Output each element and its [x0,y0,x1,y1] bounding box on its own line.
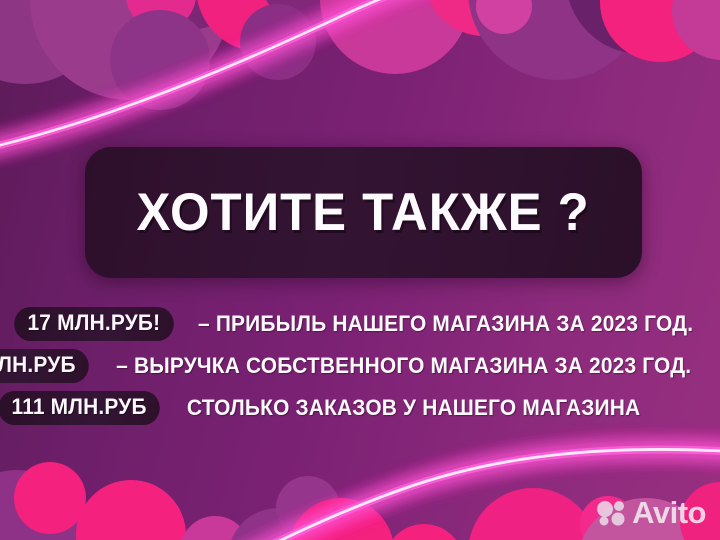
stat-row: 17 МЛН.РУБ! – ПРИБЫЛЬ НАШЕГО МАГАЗИНА ЗА… [0,303,720,345]
blob-circle [276,476,340,540]
stat-value-badge: 111 МЛН.РУБ [0,391,160,425]
page-title: ХОТИТЕ ТАКЖЕ ? [137,186,590,239]
avito-wordmark: Avito [632,497,706,528]
blob-circle [600,0,720,62]
stats-list: 17 МЛН.РУБ! – ПРИБЫЛЬ НАШЕГО МАГАЗИНА ЗА… [0,303,720,429]
blob-circle [30,0,230,100]
blob-circle [672,0,720,60]
blob-circle [476,0,532,34]
blob-circle [110,10,210,110]
stat-row: 111 МЛН.РУБ СТОЛЬКО ЗАКАЗОВ У НАШЕГО МАГ… [0,387,720,429]
stat-row: 111 МЛН.РУБ – ВЫРУЧКА СОБСТВЕННОГО МАГАЗ… [0,345,720,387]
stat-description: – ВЫРУЧКА СОБСТВЕННОГО МАГАЗИНА ЗА 2023 … [116,355,691,377]
blob-circle [288,498,394,540]
blob-circle [14,462,86,534]
blob-circle [320,0,470,74]
blob-circle [566,0,716,54]
headline-card: ХОТИТЕ ТАКЖЕ ? [85,147,642,278]
avito-dots-icon [596,500,626,526]
stat-value-badge: 17 МЛН.РУБ! [14,307,173,341]
blob-circle [424,0,544,36]
blob-circle [384,524,464,540]
blob-circle [0,470,92,540]
stat-description: – ПРИБЫЛЬ НАШЕГО МАГАЗИНА ЗА 2023 ГОД. [198,313,693,335]
blob-circle [112,0,262,30]
blob-circle [196,0,326,52]
blob-circle [180,516,250,540]
blob-circle [240,4,316,80]
stat-value-badge: 111 МЛН.РУБ [0,349,89,383]
blob-circle [76,480,186,540]
blob-circle [0,0,110,84]
stat-description: СТОЛЬКО ЗАКАЗОВ У НАШЕГО МАГАЗИНА [187,397,640,419]
promo-banner: ХОТИТЕ ТАКЖЕ ? 17 МЛН.РУБ! – ПРИБЫЛЬ НАШ… [0,0,720,540]
blob-circle [126,0,196,30]
blob-circle [258,0,378,30]
blob-circle [468,488,598,540]
avito-watermark: Avito [596,497,706,528]
blob-circle [228,508,328,540]
blob-circle [468,0,648,80]
